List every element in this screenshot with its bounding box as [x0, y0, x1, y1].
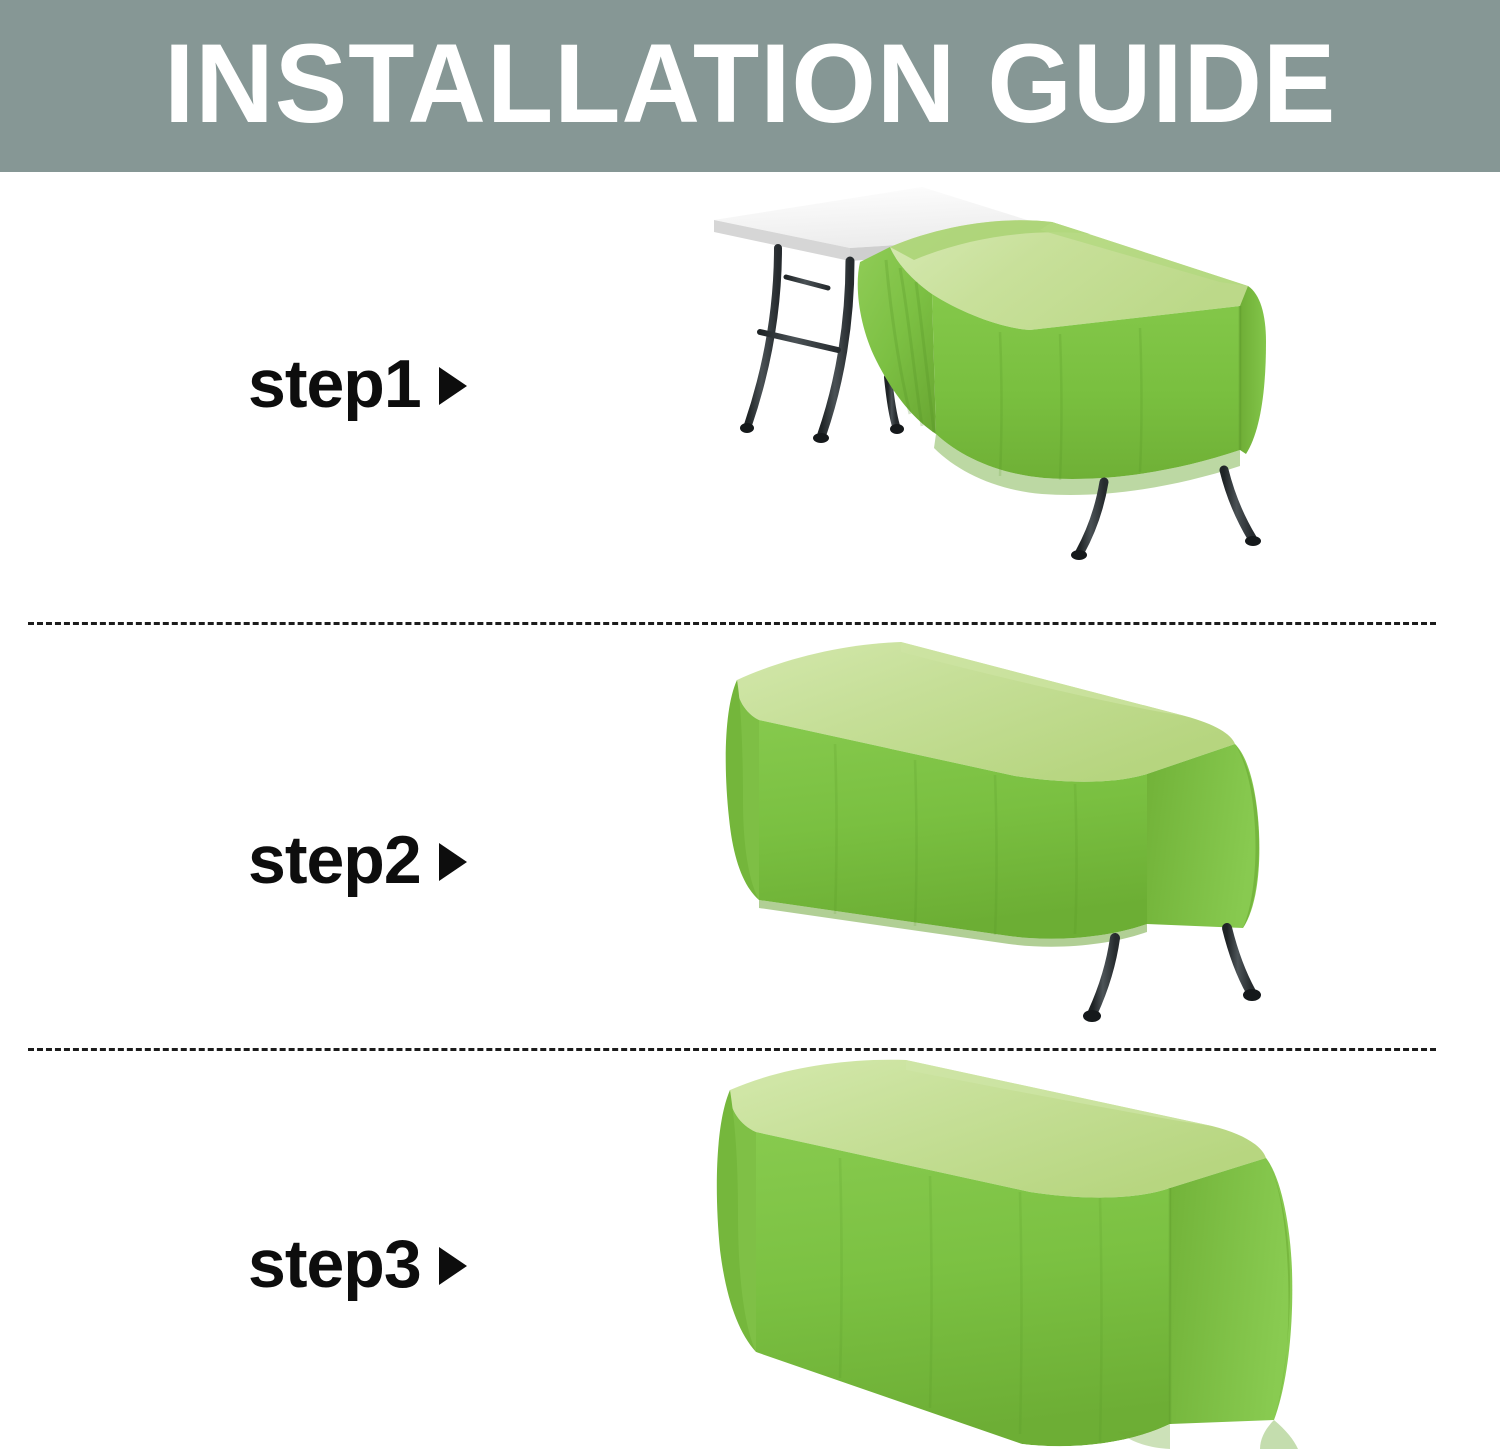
- step-label-2-text: step2: [248, 826, 421, 894]
- section-divider-1: [28, 622, 1436, 625]
- step-row-3: step3: [0, 1052, 1500, 1449]
- section-divider-2: [28, 1048, 1436, 1051]
- play-triangle-icon: [439, 1247, 467, 1285]
- step-label-3-text: step3: [248, 1230, 421, 1298]
- step-row-2: step2: [0, 626, 1500, 1048]
- illustration-step-2: [715, 632, 1280, 1032]
- steps-container: step1: [0, 172, 1500, 1449]
- green-tablecloth-cover: [858, 220, 1266, 495]
- step-label-1-text: step1: [248, 350, 421, 418]
- green-tablecloth-right-end: [1170, 1158, 1298, 1449]
- illustration-step-3: [700, 1052, 1300, 1449]
- play-triangle-icon: [439, 367, 467, 405]
- step-row-1: step1: [0, 172, 1500, 622]
- step-label-2: step2: [248, 826, 467, 894]
- page-title: INSTALLATION GUIDE: [164, 28, 1336, 144]
- table-leg-front-right: [1093, 928, 1251, 1012]
- illustration-step-1: [700, 182, 1270, 582]
- step-label-3: step3: [248, 1230, 467, 1298]
- table-leg-rear-left: [748, 248, 850, 434]
- step-label-1: step1: [248, 350, 467, 418]
- page-header-banner: INSTALLATION GUIDE: [0, 0, 1500, 172]
- green-tablecloth-left-end: [717, 1090, 756, 1352]
- play-triangle-icon: [439, 843, 467, 881]
- green-tablecloth-right-end: [1147, 744, 1259, 928]
